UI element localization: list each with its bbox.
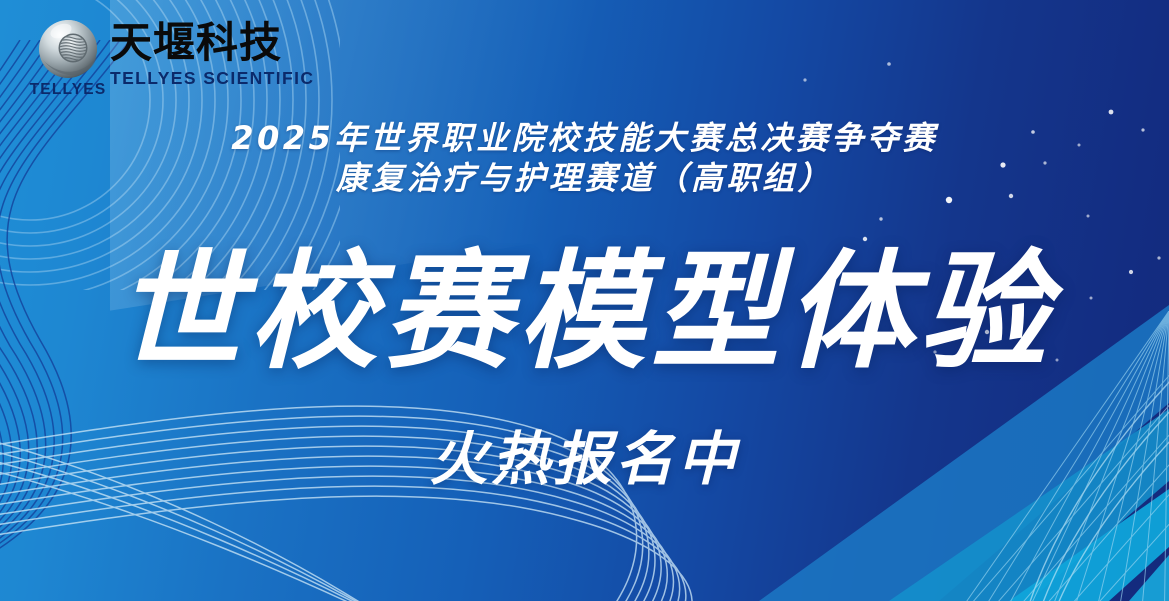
- registration-cta-text: 火热报名中: [0, 424, 1169, 494]
- brand-logo: TELLYES 天堰科技 TELLYES SCIENTIFIC: [32, 18, 314, 99]
- logo-text-group: 天堰科技 TELLYES SCIENTIFIC: [110, 18, 314, 89]
- company-name-english: TELLYES SCIENTIFIC: [110, 68, 314, 89]
- company-name-chinese: 天堰科技: [110, 20, 314, 66]
- event-subtitle-line-1: 2025年世界职业院校技能大赛总决赛争夺赛: [0, 118, 1169, 158]
- tellyes-sphere-logo-icon: [37, 18, 99, 80]
- promo-banner: TELLYES 天堰科技 TELLYES SCIENTIFIC 2025年世界职…: [0, 0, 1169, 601]
- main-headline: 世校赛模型体验: [0, 238, 1169, 388]
- event-subtitle-line-2: 康复治疗与护理赛道（高职组）: [0, 158, 1169, 198]
- logo-mark-group: TELLYES: [32, 18, 104, 99]
- event-subtitle: 2025年世界职业院校技能大赛总决赛争夺赛 康复治疗与护理赛道（高职组）: [0, 118, 1169, 198]
- logo-mark-label: TELLYES: [30, 81, 107, 99]
